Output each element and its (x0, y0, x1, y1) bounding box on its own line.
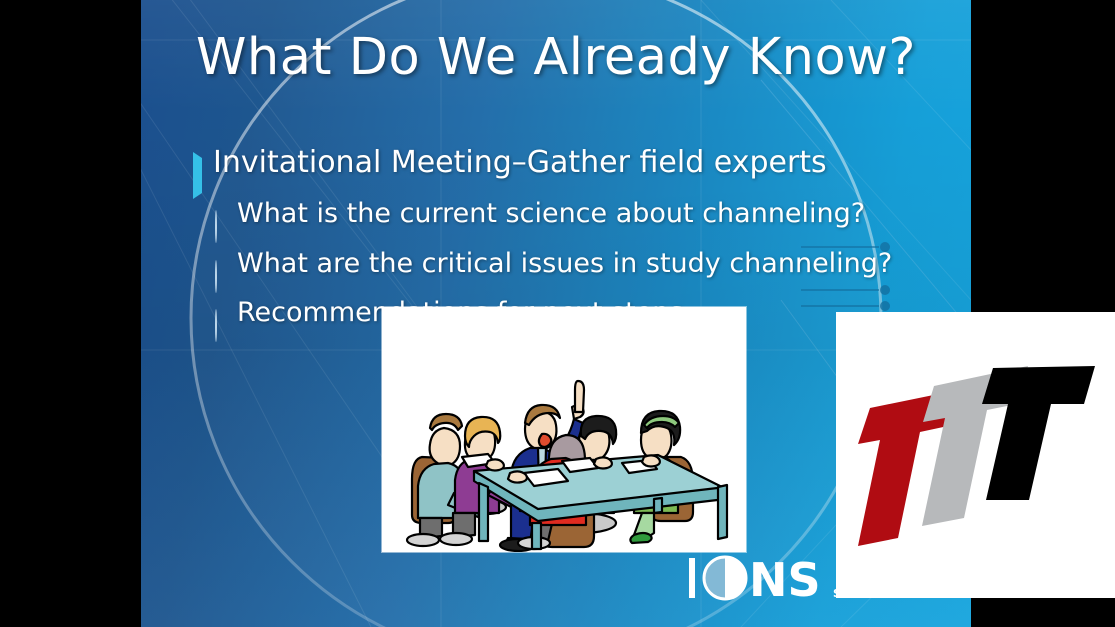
circle-bullet-icon (215, 308, 237, 345)
slide-title: What Do We Already Know? (141, 28, 971, 87)
ttt-logo-overlay (836, 312, 1115, 598)
bullet-text: What are the critical issues in study ch… (237, 246, 892, 283)
ttt-logo-graphic (836, 312, 1115, 598)
triangle-bullet-icon (193, 156, 213, 196)
svg-text:NS: NS (749, 553, 821, 607)
circle-bullet-icon (215, 259, 237, 296)
ttt-letter-black (982, 366, 1095, 500)
bullet-text: What is the current science about channe… (237, 196, 865, 233)
video-frame: What Do We Already Know? Invitational Me… (0, 0, 1115, 627)
left-letterbox (0, 0, 141, 627)
meeting-clipart-graphic (382, 307, 746, 552)
bottom-right-letterbox (971, 598, 1115, 627)
bullet-level2: What is the current science about channe… (215, 196, 933, 246)
bullet-level2: What are the critical issues in study ch… (215, 246, 933, 296)
bullet-level1: Invitational Meeting–Gather field expert… (193, 143, 933, 196)
meeting-clipart-image (382, 307, 746, 552)
bullet-text: Invitational Meeting–Gather field expert… (213, 143, 827, 183)
circle-bullet-icon (215, 209, 237, 246)
